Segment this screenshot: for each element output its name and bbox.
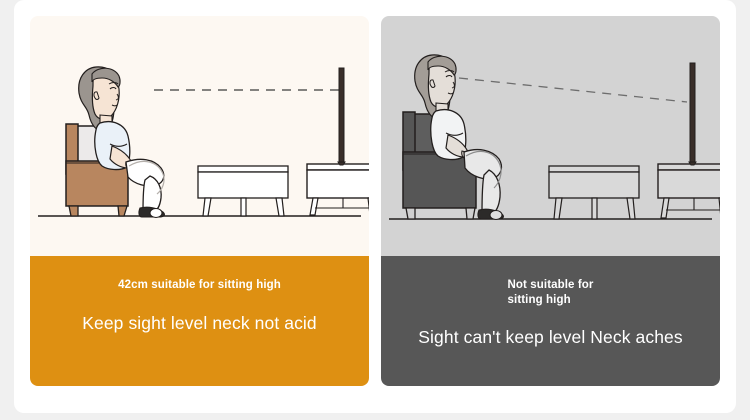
tv-screen	[690, 63, 695, 162]
panel-suitable[interactable]: 42cm suitable for sitting high Keep sigh…	[30, 16, 369, 386]
coffee-table-body	[549, 172, 639, 198]
tv-cabinet-body	[658, 170, 720, 198]
coffee-table-leg-mid	[241, 198, 246, 216]
coffee-table-top	[198, 166, 288, 172]
caption-small-line-2: sitting high	[508, 293, 594, 308]
person-shoe-heel	[490, 211, 502, 220]
tv-cabinet-leg-left	[661, 198, 669, 218]
person-shoe-heel	[150, 209, 162, 218]
coffee-table-leg-right	[276, 198, 284, 216]
caption-small-not-suitable: Not suitable for sitting high	[508, 278, 594, 307]
tv-cabinet-top	[307, 164, 369, 170]
comparison-card: 42cm suitable for sitting high Keep sigh…	[14, 0, 736, 413]
banner-not-suitable: Not suitable for sitting high Sight can'…	[381, 256, 720, 386]
tv-cabinet-top	[658, 164, 720, 170]
coffee-table-body	[198, 172, 288, 198]
tv-cabinet-leg-right	[368, 198, 369, 215]
panel-not-suitable[interactable]: Not suitable for sitting high Sight can'…	[381, 16, 720, 386]
caption-large-suitable: Keep sight level neck not acid	[82, 313, 317, 334]
coffee-table-top	[549, 166, 639, 172]
sofa-leg-back	[406, 208, 415, 219]
comparison-panels: 42cm suitable for sitting high Keep sigh…	[30, 16, 720, 386]
sofa-leg-front	[466, 208, 475, 219]
sightline-dashed	[459, 78, 687, 102]
sofa-leg-front	[118, 206, 127, 216]
tv-cabinet-leg-left	[310, 198, 318, 215]
sofa-leg-back	[69, 206, 78, 216]
caption-small-line-1: Not suitable for	[508, 278, 594, 293]
caption-large-not-suitable: Sight can't keep level Neck aches	[418, 327, 682, 348]
tv-cabinet-body	[307, 170, 369, 198]
tv-screen	[339, 68, 344, 162]
scene-suitable-illustration	[30, 16, 369, 256]
coffee-table-leg-left	[203, 198, 211, 216]
coffee-table-leg-left	[554, 198, 562, 219]
coffee-table-leg-mid	[592, 198, 597, 219]
tv-cabinet-leg-right	[719, 198, 720, 218]
banner-suitable: 42cm suitable for sitting high Keep sigh…	[30, 256, 369, 386]
caption-small-suitable: 42cm suitable for sitting high	[118, 278, 281, 293]
scene-not-suitable-illustration	[381, 16, 720, 256]
coffee-table-leg-right	[627, 198, 635, 219]
